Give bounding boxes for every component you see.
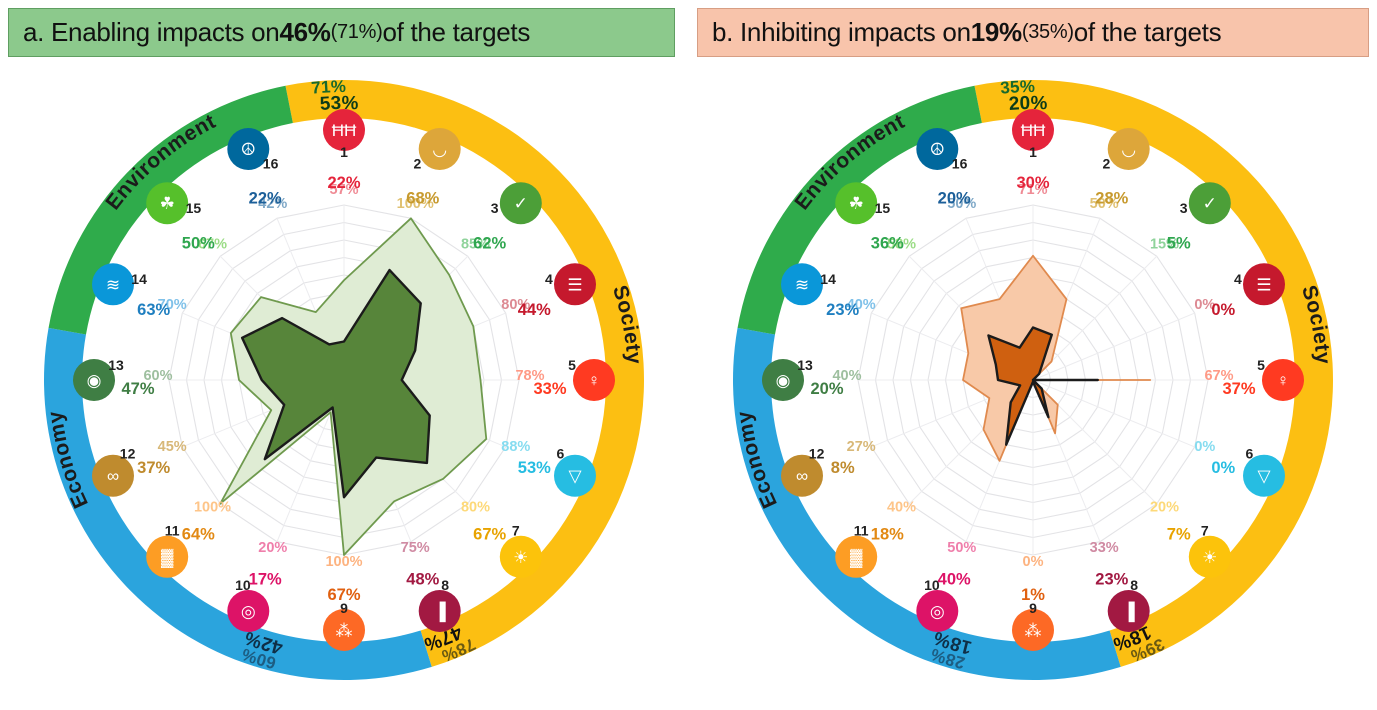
goal-8-potential-value: 75% xyxy=(401,540,430,556)
goal-12-potential-value: 27% xyxy=(847,439,876,455)
goal-group-3[interactable]: ✓315%5% xyxy=(1150,182,1231,252)
goal-number-6: 6 xyxy=(1246,445,1254,461)
goal-number-1: 1 xyxy=(1029,144,1037,160)
goal-group-5[interactable]: ♀578%33% xyxy=(515,357,615,401)
quality-education-icon-glyph: ☰ xyxy=(567,275,582,294)
goal-group-14[interactable]: ≋1440%23% xyxy=(781,263,876,319)
gender-equality-icon-glyph: ♀ xyxy=(1277,371,1290,390)
life-on-land-icon-glyph: ☘ xyxy=(849,194,864,213)
industry-innovation-icon-glyph: ⁂ xyxy=(336,621,353,640)
goal-7-actual-value: 7% xyxy=(1167,526,1191,544)
reduced-inequalities-icon-glyph: ◎ xyxy=(930,602,945,621)
peace-justice-icon-glyph: ☮ xyxy=(241,140,256,159)
goal-number-4: 4 xyxy=(545,271,553,287)
goal-group-13[interactable]: ◉1360%47% xyxy=(73,357,173,401)
decent-work-icon-glyph: ▐ xyxy=(434,601,447,623)
panel-a-header-suffix: of the targets xyxy=(382,17,530,48)
goal-group-1[interactable]: ĦĦ171%30% xyxy=(1012,109,1054,198)
peace-justice-icon-glyph: ☮ xyxy=(930,140,945,159)
goal-group-16[interactable]: ☮1642%22% xyxy=(227,128,287,212)
goal-5-actual-value: 37% xyxy=(1222,380,1255,398)
panel-b-header-bold: 19% xyxy=(971,17,1022,48)
gender-equality-icon-glyph: ♀ xyxy=(588,371,601,390)
goal-8-potential-value: 33% xyxy=(1090,540,1119,556)
goal-2-actual-value: 28% xyxy=(1095,190,1128,208)
decent-work-icon-glyph: ▐ xyxy=(1123,601,1136,623)
goal-group-15[interactable]: ☘1567%50% xyxy=(146,182,227,252)
panel-b-header-prefix: b. Inhibiting impacts on xyxy=(712,17,971,48)
goal-group-9[interactable]: ⁂90%1% xyxy=(1012,554,1054,651)
goal-group-8[interactable]: ▐833%23% xyxy=(1090,540,1150,632)
goal-4-actual-value: 0% xyxy=(1211,301,1235,319)
goal-number-2: 2 xyxy=(1103,156,1111,172)
no-poverty-icon-glyph: ĦĦ xyxy=(332,121,357,140)
affordable-energy-icon-glyph: ☀ xyxy=(513,548,528,567)
goal-3-actual-value: 62% xyxy=(473,234,506,252)
affordable-energy-icon-glyph: ☀ xyxy=(1202,548,1217,567)
goal-group-2[interactable]: ◡250%28% xyxy=(1090,128,1150,212)
goal-6-actual-value: 0% xyxy=(1211,459,1235,477)
goal-number-14: 14 xyxy=(820,271,836,287)
goal-12-actual-value: 37% xyxy=(137,459,170,477)
goal-10-actual-value: 17% xyxy=(249,570,282,588)
goal-group-6[interactable]: ▽688%53% xyxy=(501,439,596,497)
goal-group-5[interactable]: ♀567%37% xyxy=(1204,357,1304,401)
goal-group-11[interactable]: ▓11100%64% xyxy=(146,500,231,578)
goal-3-actual-value: 5% xyxy=(1167,234,1191,252)
goal-4-actual-value: 44% xyxy=(518,301,551,319)
goal-group-8[interactable]: ▐875%48% xyxy=(401,540,461,632)
goal-1-actual-value: 30% xyxy=(1016,174,1049,192)
goal-number-3: 3 xyxy=(491,200,499,216)
goal-number-15: 15 xyxy=(875,200,891,216)
life-on-land-icon-glyph: ☘ xyxy=(160,194,175,213)
goal-11-actual-value: 64% xyxy=(182,526,215,544)
goal-number-12: 12 xyxy=(120,445,136,461)
goal-number-1: 1 xyxy=(340,144,348,160)
goal-8-actual-value: 23% xyxy=(1095,570,1128,588)
infographic-root: a. Enabling impacts on 46%(71%) of the t… xyxy=(0,0,1377,710)
goal-number-16: 16 xyxy=(263,156,279,172)
goal-number-13: 13 xyxy=(797,357,813,373)
goal-group-12[interactable]: ∞1245%37% xyxy=(92,439,187,497)
goal-group-4[interactable]: ☰40%0% xyxy=(1194,263,1285,319)
panel-b-header-paren: (35%) xyxy=(1022,21,1074,44)
goal-number-8: 8 xyxy=(441,577,449,593)
goal-number-5: 5 xyxy=(1257,357,1265,373)
responsible-consumption-icon-glyph: ∞ xyxy=(107,467,119,486)
goal-group-9[interactable]: ⁂9100%67% xyxy=(323,554,365,651)
goal-number-6: 6 xyxy=(557,445,565,461)
goal-14-actual-value: 23% xyxy=(826,301,859,319)
panel-a-header-paren: (71%) xyxy=(331,21,383,44)
goal-13-actual-value: 47% xyxy=(121,380,154,398)
goal-number-3: 3 xyxy=(1180,200,1188,216)
panel-b-header-suffix: of the targets xyxy=(1074,17,1222,48)
goal-group-7[interactable]: ☀720%7% xyxy=(1150,500,1231,578)
goal-number-2: 2 xyxy=(414,156,422,172)
goal-group-4[interactable]: ☰480%44% xyxy=(501,263,596,319)
climate-action-icon-glyph: ◉ xyxy=(87,371,102,390)
goal-number-7: 7 xyxy=(512,523,520,539)
goal-6-potential-value: 88% xyxy=(501,439,530,455)
reduced-inequalities-icon-glyph: ◎ xyxy=(241,602,256,621)
goal-10-potential-value: 20% xyxy=(258,540,287,556)
goal-number-12: 12 xyxy=(809,445,825,461)
radar-polygon-potential xyxy=(961,256,1150,461)
sustainable-cities-icon-glyph: ▓ xyxy=(850,548,863,568)
goal-11-potential-value: 40% xyxy=(887,500,916,516)
quality-education-icon-glyph: ☰ xyxy=(1256,275,1271,294)
clean-water-icon-glyph: ▽ xyxy=(1257,467,1271,486)
goal-12-actual-value: 8% xyxy=(831,459,855,477)
goal-number-7: 7 xyxy=(1201,523,1209,539)
goal-number-14: 14 xyxy=(131,271,147,287)
no-poverty-icon-glyph: ĦĦ xyxy=(1021,121,1046,140)
goal-8-actual-value: 48% xyxy=(406,570,439,588)
goal-group-15[interactable]: ☘1558%36% xyxy=(835,182,916,252)
panel-a-header-bold: 46% xyxy=(279,17,330,48)
radar-chart-inhibiting: SocietyEconomyEnvironment39%18%28%18%35%… xyxy=(689,62,1377,710)
goal-11-potential-value: 100% xyxy=(194,500,231,516)
goal-14-actual-value: 63% xyxy=(137,301,170,319)
goal-number-5: 5 xyxy=(568,357,576,373)
goal-number-8: 8 xyxy=(1130,577,1138,593)
goal-1-actual-value: 22% xyxy=(327,174,360,192)
goal-group-16[interactable]: ☮1650%20% xyxy=(916,128,976,212)
climate-action-icon-glyph: ◉ xyxy=(776,371,791,390)
goal-9-potential-value: 0% xyxy=(1023,554,1044,570)
goal-7-potential-value: 80% xyxy=(461,500,490,516)
goal-number-16: 16 xyxy=(952,156,968,172)
zero-hunger-icon-glyph: ◡ xyxy=(432,140,447,159)
goal-11-actual-value: 18% xyxy=(871,526,904,544)
goal-10-actual-value: 40% xyxy=(938,570,971,588)
goal-number-4: 4 xyxy=(1234,271,1242,287)
goal-6-potential-value: 0% xyxy=(1194,439,1215,455)
goal-9-potential-value: 100% xyxy=(325,554,362,570)
panel-b-header: b. Inhibiting impacts on 19%(35%) of the… xyxy=(697,8,1369,57)
goal-number-11: 11 xyxy=(165,523,180,539)
goal-12-potential-value: 45% xyxy=(158,439,187,455)
panel-a-header-prefix: a. Enabling impacts on xyxy=(23,17,279,48)
radar-chart-enabling: SocietyEconomyEnvironment78%47%60%42%71%… xyxy=(0,62,688,710)
goal-5-actual-value: 33% xyxy=(533,380,566,398)
goal-group-10[interactable]: ◎1050%40% xyxy=(916,540,976,632)
goal-16-actual-value: 20% xyxy=(938,190,971,208)
goal-9-actual-value: 1% xyxy=(1021,586,1045,604)
goal-7-potential-value: 20% xyxy=(1150,500,1179,516)
goal-number-13: 13 xyxy=(108,357,124,373)
goal-group-6[interactable]: ▽60%0% xyxy=(1194,439,1285,497)
goal-15-actual-value: 36% xyxy=(871,234,904,252)
goal-group-12[interactable]: ∞1227%8% xyxy=(781,439,876,497)
goal-group-11[interactable]: ▓1140%18% xyxy=(835,500,916,578)
clean-water-icon-glyph: ▽ xyxy=(568,467,582,486)
goal-9-actual-value: 67% xyxy=(327,586,360,604)
life-below-water-icon-glyph: ≋ xyxy=(106,275,120,294)
goal-6-actual-value: 53% xyxy=(518,459,551,477)
goal-7-actual-value: 67% xyxy=(473,526,506,544)
goal-group-14[interactable]: ≋1470%63% xyxy=(92,263,187,319)
goal-16-actual-value: 22% xyxy=(249,190,282,208)
goal-group-10[interactable]: ◎1020%17% xyxy=(227,540,287,632)
goal-15-actual-value: 50% xyxy=(182,234,215,252)
life-below-water-icon-glyph: ≋ xyxy=(795,275,809,294)
goal-group-2[interactable]: ◡2100%68% xyxy=(397,128,461,212)
sustainable-cities-icon-glyph: ▓ xyxy=(161,548,174,568)
good-health-icon-glyph: ✓ xyxy=(1203,194,1217,213)
industry-innovation-icon-glyph: ⁂ xyxy=(1025,621,1042,640)
panel-a-header: a. Enabling impacts on 46%(71%) of the t… xyxy=(8,8,675,57)
good-health-icon-glyph: ✓ xyxy=(514,194,528,213)
goal-group-1[interactable]: ĦĦ157%22% xyxy=(323,109,365,198)
goal-number-15: 15 xyxy=(186,200,202,216)
goal-10-potential-value: 50% xyxy=(947,540,976,556)
goal-group-3[interactable]: ✓385%62% xyxy=(461,182,542,252)
responsible-consumption-icon-glyph: ∞ xyxy=(796,467,808,486)
zero-hunger-icon-glyph: ◡ xyxy=(1121,140,1136,159)
goal-number-11: 11 xyxy=(854,523,869,539)
goal-group-13[interactable]: ◉1340%20% xyxy=(762,357,862,401)
goal-group-7[interactable]: ☀780%67% xyxy=(461,500,542,578)
goal-13-actual-value: 20% xyxy=(810,380,843,398)
goal-2-actual-value: 68% xyxy=(406,190,439,208)
